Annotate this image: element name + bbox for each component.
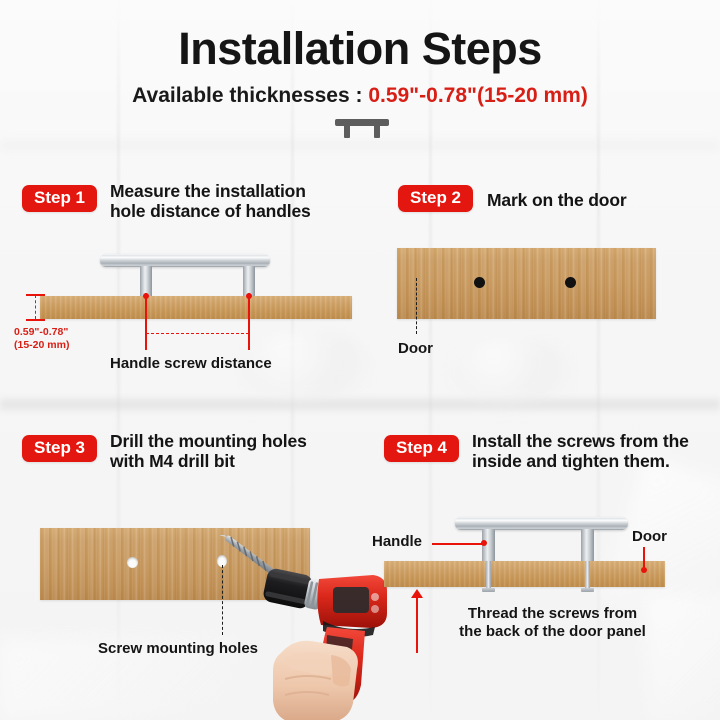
caliper-dashed-connector (35, 295, 36, 319)
step-4-handle-bar (455, 517, 628, 530)
step-1-thickness-annotation: 0.59"-0.78" (15-20 mm) (14, 326, 69, 352)
step-4-caption: Thread the screws from the back of the d… (430, 605, 675, 642)
step-1-instruction-line1: Measure the installation (110, 181, 311, 201)
step-2-badge: Step 2 (398, 185, 473, 212)
step-4-panel: Step 4 Install the screws from the insid… (360, 415, 720, 720)
step-1-measure-line-right (248, 293, 250, 350)
step-2-door-leader-line (416, 278, 417, 334)
step-4-screw-left (486, 561, 491, 591)
step-1-instruction: Measure the installation hole distance o… (110, 181, 311, 222)
caliper-bottom-line (26, 319, 45, 321)
step-3-panel: Step 3 Drill the mounting holes with M4 … (0, 415, 360, 720)
step-4-instruction-line2: inside and tighten them. (472, 451, 689, 471)
step-2-instruction: Mark on the door (487, 190, 627, 210)
step-3-instruction: Drill the mounting holes with M4 drill b… (110, 431, 307, 472)
step-4-instruction-line1: Install the screws from the (472, 431, 689, 451)
step-1-caption: Handle screw distance (110, 355, 272, 373)
installation-steps-infographic: Installation Steps Available thicknesses… (0, 0, 720, 720)
step-4-badge: Step 4 (384, 435, 459, 462)
t-bar-handle-icon-leg-right (374, 125, 380, 138)
step-4-door-leader-dot (641, 567, 647, 573)
step-3-instruction-line2: with M4 drill bit (110, 451, 307, 471)
step-4-screw-head-left (482, 588, 495, 592)
step-4-thread-arrow-line (416, 598, 418, 653)
step-2-mark-left (474, 277, 485, 288)
step-2-instruction-line1: Mark on the door (487, 190, 627, 210)
step-1-measure-line-left (145, 293, 147, 350)
step-4-caption-line1: Thread the screws from (430, 605, 675, 623)
step-4-screw-head-right (581, 588, 594, 592)
drill-chuck (262, 567, 326, 612)
step-1-thickness-line2: (15-20 mm) (14, 339, 69, 352)
step-1-door-panel (40, 296, 352, 319)
thickness-subtitle: Available thicknesses : 0.59"-0.78"(15-2… (0, 85, 720, 106)
step-3-badge: Step 3 (22, 435, 97, 462)
step-4-handle-leader-dot (481, 540, 487, 546)
step-2-door-panel (397, 248, 656, 319)
step-4-instruction: Install the screws from the inside and t… (472, 431, 689, 472)
step-2-panel: Step 2 Mark on the door Door (360, 165, 720, 415)
step-1-thickness-line1: 0.59"-0.78" (14, 326, 69, 339)
step-2-mark-right (565, 277, 576, 288)
step-1-panel: Step 1 Measure the installation hole dis… (0, 165, 360, 415)
step-3-instruction-line1: Drill the mounting holes (110, 431, 307, 451)
t-bar-handle-icon-leg-left (344, 125, 350, 138)
t-bar-handle-icon (335, 119, 389, 141)
step-2-caption: Door (398, 340, 433, 358)
page-title: Installation Steps (0, 26, 720, 71)
step-4-handle-label: Handle (372, 533, 422, 551)
holding-hand (273, 641, 358, 720)
step-4-caption-line2: the back of the door panel (430, 623, 675, 641)
step-4-screw-right (585, 561, 590, 591)
background-upper-band (0, 140, 720, 150)
thickness-subtitle-value: 0.59"-0.78"(15-20 mm) (368, 84, 588, 107)
step-1-thickness-caliper (26, 294, 48, 321)
step-4-thread-arrow-head (411, 589, 423, 598)
step-4-door-panel (384, 561, 665, 587)
step-4-handle-leader-line (432, 543, 484, 545)
step-3-drilled-hole-left (127, 557, 138, 568)
step-4-handle-leg-right (581, 529, 594, 562)
thickness-subtitle-prefix: Available thicknesses : (132, 84, 368, 107)
step-1-instruction-line2: hole distance of handles (110, 201, 311, 221)
step-1-badge: Step 1 (22, 185, 97, 212)
step-1-measure-dashed-span (146, 333, 249, 334)
step-4-door-label: Door (632, 528, 667, 546)
